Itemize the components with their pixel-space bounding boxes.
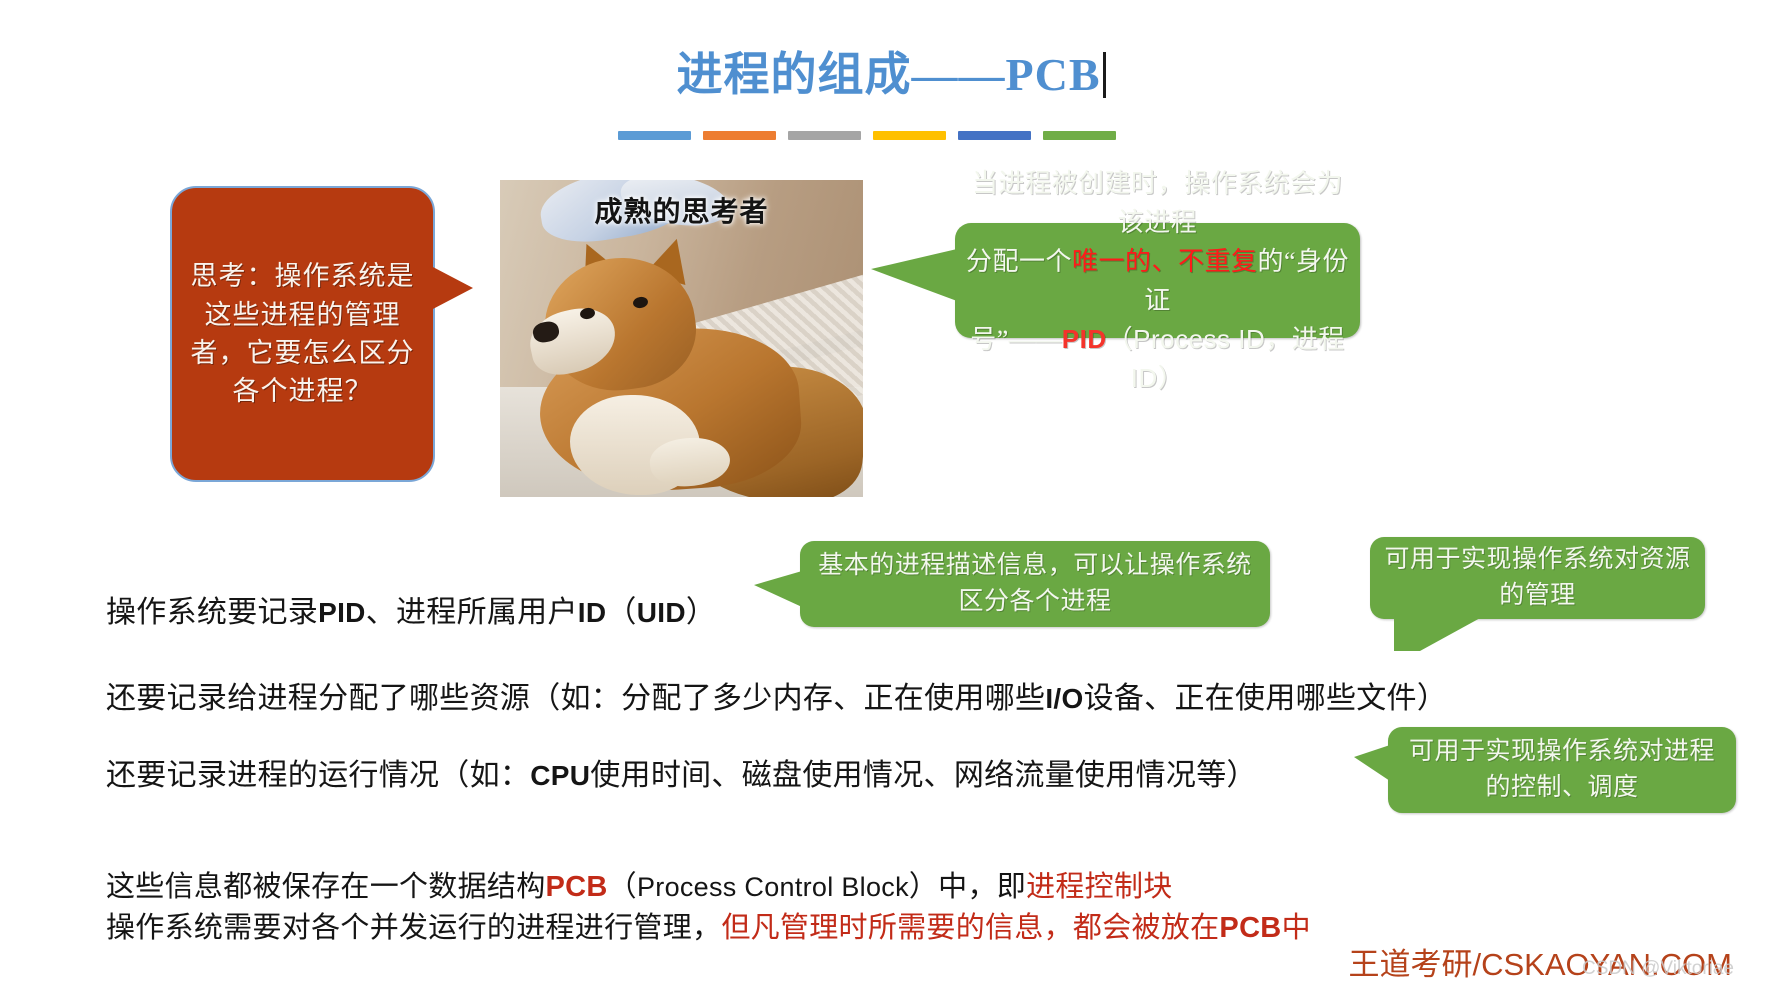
line2-io: I/O (1045, 683, 1083, 714)
body-line-pid-uid: 操作系统要记录PID、进程所属用户ID（UID） (106, 587, 716, 631)
pid-line-2-highlight: 唯一的、不重复 (1072, 247, 1258, 276)
line2-b: 设备、正在使用哪些文件） (1084, 682, 1448, 715)
body-line-resources: 还要记录给进程分配了哪些资源（如：分配了多少内存、正在使用哪些I/O设备、正在使… (106, 673, 1447, 717)
body-line-runtime: 还要记录进程的运行情况（如：CPU使用时间、磁盘使用情况、网络流量使用情况等） (106, 750, 1257, 794)
callout-tail (1394, 617, 1482, 651)
line1-d: ） (686, 596, 716, 629)
resource-management-text: 可用于实现操作系统对资源的管理 (1370, 542, 1705, 615)
pid-token: PID (1062, 324, 1107, 354)
line1-pid: PID (318, 597, 366, 628)
bar-gray (788, 131, 861, 140)
summary-2-red-2: 中 (1282, 912, 1311, 944)
summary-block: 这些信息都被保存在一个数据结构PCB（Process Control Block… (106, 867, 1311, 949)
bar-indigo (958, 131, 1031, 140)
callout-tail (871, 249, 957, 301)
summary-row-1: 这些信息都被保存在一个数据结构PCB（Process Control Block… (106, 867, 1311, 908)
line2-a: 还要记录给进程分配了哪些资源（如：分配了多少内存、正在使用哪些 (106, 682, 1045, 715)
csdn-watermark: CSDN @Viktoriae (1582, 958, 1734, 980)
process-control-text: 可用于实现操作系统对进程的控制、调度 (1388, 734, 1736, 807)
line3-a: 还要记录进程的运行情况（如： (106, 759, 530, 792)
line1-a: 操作系统要记录 (106, 596, 318, 629)
line1-uid: UID (637, 597, 686, 628)
bar-yellow (873, 131, 946, 140)
line1-id: ID (578, 597, 607, 628)
pid-line-3-suffix: （Process ID，进程ID） (1107, 324, 1345, 393)
line1-b: 、进程所属用户 (366, 596, 578, 629)
line3-cpu: CPU (530, 760, 590, 791)
question-callout: 思考：操作系统是这些进程的管理者，它要怎么区分各个进程？ (170, 186, 435, 482)
dog-photo: 成熟的思考者 (500, 180, 863, 497)
page-title-text: 进程的组成——PCB (677, 49, 1101, 100)
summary-1-latin: Process Control Block (637, 872, 909, 902)
summary-2-pcb: PCB (1219, 912, 1281, 944)
slide-canvas: 进程的组成——PCB 思考：操作系统是这些进程的管理者，它要怎么区分各个进程？ … (0, 0, 1782, 994)
question-callout-text: 思考：操作系统是这些进程的管理者，它要怎么区分各个进程？ (172, 257, 433, 410)
pid-line-1: 当进程被创建时，操作系统会为该进程 (972, 169, 1343, 237)
summary-2-red: 但凡管理时所需要的信息，都会被放在 (721, 912, 1219, 944)
line1-c: （ (606, 596, 636, 629)
callout-tail (754, 571, 802, 607)
summary-row-2: 操作系统需要对各个并发运行的进程进行管理，但凡管理时所需要的信息，都会被放在PC… (106, 908, 1311, 949)
summary-1-c: ）中，即 (909, 871, 1026, 903)
accent-bars (618, 131, 1116, 140)
summary-1-a: 这些信息都被保存在一个数据结构 (106, 871, 546, 903)
line3-b: 使用时间、磁盘使用情况、网络流量使用情况等） (590, 759, 1257, 792)
summary-2-a: 操作系统需要对各个并发运行的进程进行管理， (106, 912, 721, 944)
pid-explanation-callout: 当进程被创建时，操作系统会为该进程 分配一个唯一的、不重复的“身份证 号”——P… (955, 223, 1360, 338)
callout-tail (1354, 745, 1390, 781)
pid-explanation-text: 当进程被创建时，操作系统会为该进程 分配一个唯一的、不重复的“身份证 号”——P… (955, 164, 1360, 398)
bar-blue (618, 131, 691, 140)
pid-line-3-prefix: 号”—— (970, 325, 1062, 354)
text-cursor (1103, 52, 1106, 98)
process-control-callout: 可用于实现操作系统对进程的控制、调度 (1388, 727, 1736, 813)
describe-info-text: 基本的进程描述信息，可以让操作系统区分各个进程 (800, 548, 1270, 621)
describe-info-callout: 基本的进程描述信息，可以让操作系统区分各个进程 (800, 541, 1270, 627)
photo-caption: 成熟的思考者 (500, 190, 863, 230)
summary-1-pcb: PCB (546, 871, 608, 903)
pid-explanation-body: 当进程被创建时，操作系统会为该进程 分配一个唯一的、不重复的“身份证 号”——P… (955, 223, 1360, 338)
pid-line-2-prefix: 分配一个 (966, 247, 1072, 276)
resource-management-callout: 可用于实现操作系统对资源的管理 (1370, 537, 1705, 619)
bar-orange (703, 131, 776, 140)
callout-tail (431, 266, 473, 310)
page-title: 进程的组成——PCB (0, 38, 1782, 104)
bar-green (1043, 131, 1116, 140)
summary-1-b: （ (608, 871, 637, 903)
summary-1-red: 进程控制块 (1026, 871, 1173, 903)
